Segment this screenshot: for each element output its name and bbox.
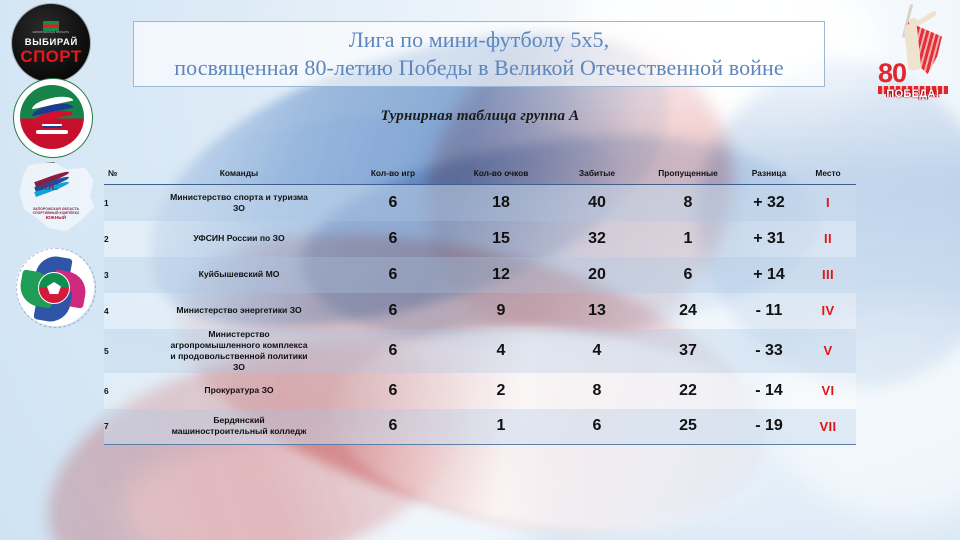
column-header-points: Кол-во очков [446,162,556,185]
vybiray-sport-caption: ЗАПОРОЖСКАЯ ОБЛАСТЬ [33,32,70,35]
row-number: 3 [104,257,138,293]
standings-table: № Команды Кол-во игр Кол-во очков Забиты… [104,162,856,445]
row-team-name: Министерство агропромышленного комплекса… [138,329,340,373]
row-difference: + 31 [738,221,800,257]
row-games: 6 [340,329,446,373]
statue-arm-icon [914,10,937,27]
row-team-name: Министерство спорта и туризма ЗО [138,185,340,221]
standings-table-wrap: № Команды Кол-во игр Кол-во очков Забиты… [104,162,856,445]
row-team-name: Бердянский машиностроительный колледж [138,409,340,445]
row-team-name: Прокуратура ЗО [138,373,340,409]
row-number: 6 [104,373,138,409]
row-number: 1 [104,185,138,221]
row-missed: 37 [638,329,738,373]
football-federation-logo-icon [8,242,100,332]
row-missed: 22 [638,373,738,409]
row-missed: 1 [638,221,738,257]
row-place: III [800,257,856,293]
row-points: 12 [446,257,556,293]
row-points: 15 [446,221,556,257]
column-header-missed: Пропущенные [638,162,738,185]
row-place: I [800,185,856,221]
row-scored: 8 [556,373,638,409]
table-row: 6Прокуратура ЗО62822- 14VI [104,373,856,409]
row-scored: 20 [556,257,638,293]
victory-number: 80 [878,60,906,87]
row-points: 2 [446,373,556,409]
page-title: Лига по мини-футболу 5х5, посвященная 80… [174,26,784,82]
row-number: 7 [104,409,138,445]
row-points: 4 [446,329,556,373]
row-missed: 25 [638,409,738,445]
vybiray-sport-line1: ВЫБИРАЙ [24,38,77,47]
row-scored: 4 [556,329,638,373]
sport-complex-caption: ЗАПОРОЖСКАЯ ОБЛАСТЬ СПОРТИВНЫЙ КОМПЛЕКС … [18,208,94,220]
row-points: 1 [446,409,556,445]
table-row: 1Министерство спорта и туризма ЗО618408+… [104,185,856,221]
row-missed: 6 [638,257,738,293]
table-row: 2УФСИН России по ЗО615321+ 31II [104,221,856,257]
table-header-row: № Команды Кол-во игр Кол-во очков Забиты… [104,162,856,185]
row-difference: - 33 [738,329,800,373]
football-ball-icon [38,272,70,304]
row-number: 5 [104,329,138,373]
row-scored: 40 [556,185,638,221]
table-body: 1Министерство спорта и туризма ЗО618408+… [104,185,856,445]
victory-word: ПОБЕДА! [878,88,948,100]
row-team-name: УФСИН России по ЗО [138,221,340,257]
column-header-teams: Команды [138,162,340,185]
column-header-place: Место [800,162,856,185]
row-place: II [800,221,856,257]
row-number: 4 [104,293,138,329]
flag-badge-icon [43,21,59,31]
row-team-name: Министерство энергетики ЗО [138,293,340,329]
row-missed: 8 [638,185,738,221]
slide-stage: ЗАПОРОЖСКАЯ ОБЛАСТЬ ВЫБИРАЙ СПОРТ ЮС ЗАП… [0,0,960,540]
table-header: № Команды Кол-во игр Кол-во очков Забиты… [104,162,856,185]
vybiray-sport-line2: СПОРТ [20,48,81,65]
row-difference: + 14 [738,257,800,293]
row-games: 6 [340,293,446,329]
sport-complex-line3: ЮЖНЫЙ [18,216,94,221]
row-place: V [800,329,856,373]
row-points: 18 [446,185,556,221]
sport-complex-yuzhny-logo-icon: ЮС ЗАПОРОЖСКАЯ ОБЛАСТЬ СПОРТИВНЫЙ КОМПЛЕ… [10,158,102,238]
row-scored: 6 [556,409,638,445]
table-row: 4Министерство энергетики ЗО691324- 11IV [104,293,856,329]
table-row: 3Куйбышевский МО612206+ 14III [104,257,856,293]
column-header-difference: Разница [738,162,800,185]
row-number: 2 [104,221,138,257]
column-header-number: № [104,162,138,185]
victory-80-logo-icon: 80 ПОБЕДА! [874,2,954,106]
row-difference: - 14 [738,373,800,409]
row-scored: 32 [556,221,638,257]
row-points: 9 [446,293,556,329]
row-games: 6 [340,257,446,293]
row-place: IV [800,293,856,329]
row-games: 6 [340,409,446,445]
row-difference: + 32 [738,185,800,221]
row-games: 6 [340,373,446,409]
row-place: VII [800,409,856,445]
yus-monogram: ЮС [40,182,58,193]
row-scored: 13 [556,293,638,329]
column-header-scored: Забитые [556,162,638,185]
title-box: Лига по мини-футболу 5х5, посвященная 80… [133,21,825,87]
row-team-name: Куйбышевский МО [138,257,340,293]
row-games: 6 [340,221,446,257]
column-header-games: Кол-во игр [340,162,446,185]
row-missed: 24 [638,293,738,329]
row-difference: - 11 [738,293,800,329]
row-place: VI [800,373,856,409]
table-row: 7Бердянский машиностроительный колледж61… [104,409,856,445]
vybiray-sport-logo-icon: ЗАПОРОЖСКАЯ ОБЛАСТЬ ВЫБИРАЙ СПОРТ [12,4,90,82]
table-row: 5Министерство агропромышленного комплекс… [104,329,856,373]
row-difference: - 19 [738,409,800,445]
subtitle: Турнирная таблица группа А [0,108,960,125]
row-games: 6 [340,185,446,221]
